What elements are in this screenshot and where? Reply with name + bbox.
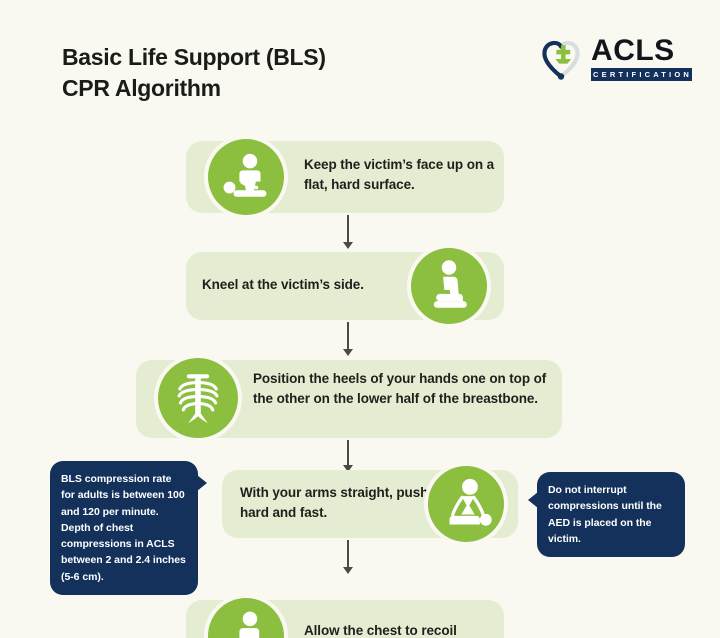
step-3-label: Position the heels of your hands one on … — [253, 369, 553, 408]
step-5-label: Allow the chest to recoil — [304, 621, 524, 638]
connector-3-4 — [341, 440, 355, 472]
callout-aed: Do not interrupt compressions until the … — [537, 472, 685, 557]
callout-left-text: BLS compression rate for adults is betwe… — [61, 473, 186, 583]
infographic-page: Basic Life Support (BLS) CPR Algorithm A… — [0, 0, 720, 638]
callout-right-tail — [528, 492, 538, 508]
callout-compression-rate: BLS compression rate for adults is betwe… — [50, 461, 198, 595]
connector-4-5 — [341, 540, 355, 574]
chest-recoil-icon — [208, 598, 284, 638]
connector-2-3 — [341, 322, 355, 356]
rib-cage-icon — [158, 358, 238, 438]
kneeling-person-icon — [411, 248, 487, 324]
step-2-label: Kneel at the victim’s side. — [202, 275, 412, 295]
cpr-rescuer-over-victim-icon — [208, 139, 284, 215]
cpr-algorithm-flow: Keep the victim’s face up on a flat, har… — [0, 0, 720, 638]
connector-1-2 — [341, 215, 355, 249]
step-1-label: Keep the victim’s face up on a flat, har… — [304, 155, 500, 194]
callout-right-text: Do not interrupt compressions until the … — [548, 484, 662, 545]
step-4-label: With your arms straight, push hard and f… — [240, 483, 430, 522]
callout-left-tail — [197, 475, 207, 491]
chest-compression-icon — [428, 466, 504, 542]
